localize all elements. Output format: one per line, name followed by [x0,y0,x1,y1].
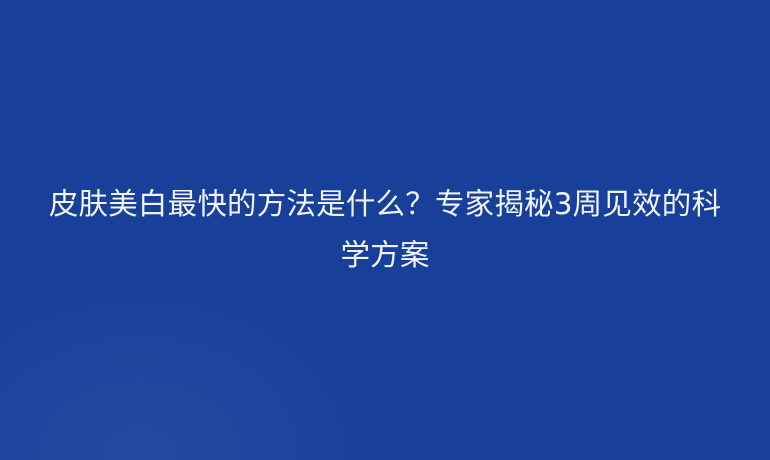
article-title-card: 皮肤美白最快的方法是什么？专家揭秘3周见效的科学方案 [0,0,770,460]
background-glow [0,270,390,460]
headline-block: 皮肤美白最快的方法是什么？专家揭秘3周见效的科学方案 [35,179,735,281]
page-title: 皮肤美白最快的方法是什么？专家揭秘3周见效的科学方案 [47,179,723,281]
